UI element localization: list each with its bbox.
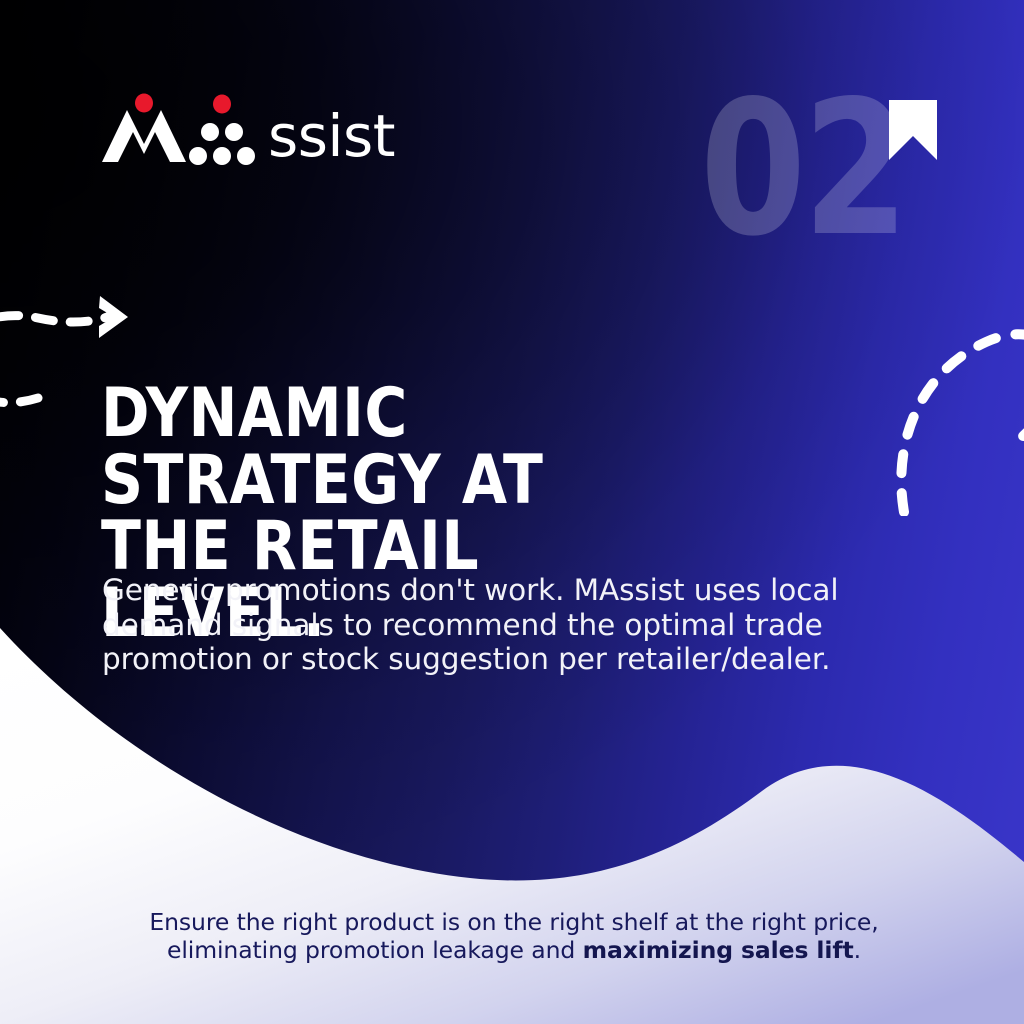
social-card: ssist 02 Dynamic strategy at the retail … <box>0 0 1024 1024</box>
caption-highlight: maximizing sales lift <box>583 936 854 964</box>
brand-logo: ssist <box>100 92 395 168</box>
body-paragraph: Generic promotions don't work. MAssist u… <box>102 573 854 677</box>
logo-wordmark: ssist <box>268 107 395 165</box>
bookmark-icon <box>889 100 937 160</box>
mountain-m-with-dot-matrix-icon <box>100 92 266 168</box>
step-number: 02 <box>700 76 906 262</box>
dashed-arc-icon <box>876 316 1024 516</box>
footer-caption: Ensure the right product is on the right… <box>140 908 888 965</box>
caption-tail: . <box>854 936 861 964</box>
